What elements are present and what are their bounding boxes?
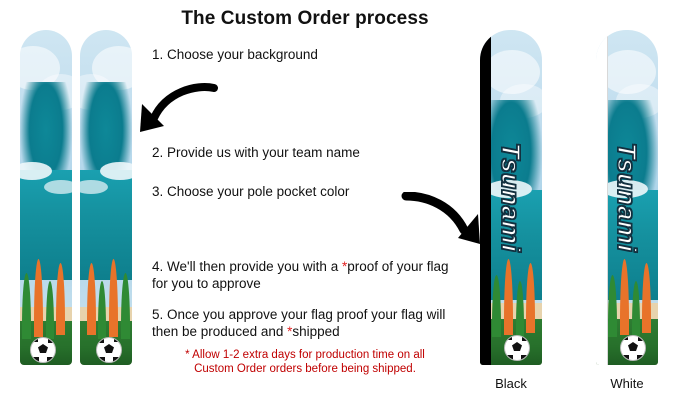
step-4: 4. We'll then provide you with a *proof … bbox=[152, 258, 462, 292]
step-3-number: 3. bbox=[152, 184, 163, 199]
flag-preview-white-pocket[interactable]: Tsunami bbox=[596, 30, 658, 365]
step-5: 5. Once you approve your flag proof your… bbox=[152, 306, 464, 340]
caption-black: Black bbox=[478, 376, 544, 391]
pole-pocket-white[interactable] bbox=[596, 30, 608, 365]
soccer-ball-icon bbox=[30, 337, 56, 363]
step-1: 1. Choose your background bbox=[152, 46, 452, 63]
step-4-text: We'll then provide you with a bbox=[167, 259, 342, 274]
step-5-number: 5. bbox=[152, 307, 163, 322]
step-2-number: 2. bbox=[152, 145, 163, 160]
soccer-ball-icon bbox=[620, 335, 646, 361]
page-title: The Custom Order process bbox=[140, 8, 470, 30]
soccer-ball-icon bbox=[504, 335, 530, 361]
step-2-text: Provide us with your team name bbox=[167, 145, 360, 160]
step-1-text: Choose your background bbox=[167, 47, 318, 62]
flag-preview-background-left-mirror bbox=[80, 30, 132, 365]
step-3-text: Choose your pole pocket color bbox=[167, 184, 349, 199]
footnote: * Allow 1-2 extra days for production ti… bbox=[150, 348, 460, 376]
step-4-number: 4. bbox=[152, 259, 163, 274]
foam-shape bbox=[602, 180, 648, 198]
panel-gap bbox=[72, 24, 80, 370]
diagram-canvas: The Custom Order process 1. Choose your … bbox=[0, 0, 682, 405]
foam-shape bbox=[486, 180, 532, 198]
flag-preview-black-pocket[interactable]: Tsunami bbox=[480, 30, 542, 365]
curved-arrow-right-icon bbox=[400, 192, 482, 257]
footnote-line-1: * Allow 1-2 extra days for production ti… bbox=[150, 348, 460, 362]
step-1-number: 1. bbox=[152, 47, 163, 62]
footnote-line-2: Custom Order orders before being shipped… bbox=[150, 362, 460, 376]
foam-shape bbox=[44, 180, 72, 194]
flag-preview-background-left bbox=[20, 30, 72, 365]
caption-white: White bbox=[594, 376, 660, 391]
pole-pocket-black[interactable] bbox=[480, 30, 491, 365]
foam-shape bbox=[100, 162, 132, 180]
step-5-text-continued: shipped bbox=[292, 324, 339, 339]
curved-arrow-left-icon bbox=[140, 82, 220, 145]
soccer-ball-icon bbox=[96, 337, 122, 363]
step-2: 2. Provide us with your team name bbox=[152, 144, 452, 161]
